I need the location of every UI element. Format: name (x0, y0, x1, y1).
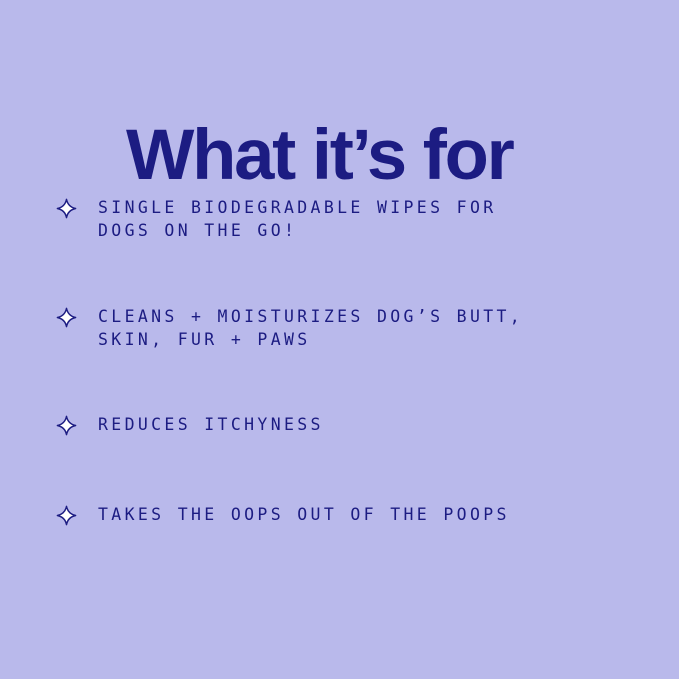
list-item-label: CLEANS + MOISTURIZES DOG’S BUTT, SKIN, F… (98, 305, 679, 351)
list-item-label: TAKES THE OOPS OUT OF THE POOPS (98, 503, 679, 526)
list-item: REDUCES ITCHYNESS (0, 413, 679, 436)
sparkle-icon (56, 307, 77, 328)
product-feature-panel: What it’s for SINGLE BIODEGRADABLE WIPES… (0, 0, 679, 679)
page-title: What it’s for (126, 117, 513, 195)
list-item: TAKES THE OOPS OUT OF THE POOPS (0, 503, 679, 526)
list-item: SINGLE BIODEGRADABLE WIPES FOR DOGS ON T… (0, 196, 679, 242)
sparkle-icon (56, 505, 77, 526)
feature-list: SINGLE BIODEGRADABLE WIPES FOR DOGS ON T… (0, 196, 679, 526)
sparkle-icon (56, 198, 77, 219)
list-item: CLEANS + MOISTURIZES DOG’S BUTT, SKIN, F… (0, 305, 679, 351)
sparkle-icon (56, 415, 77, 436)
list-item-label: REDUCES ITCHYNESS (98, 413, 679, 436)
list-item-label: SINGLE BIODEGRADABLE WIPES FOR DOGS ON T… (98, 196, 679, 242)
